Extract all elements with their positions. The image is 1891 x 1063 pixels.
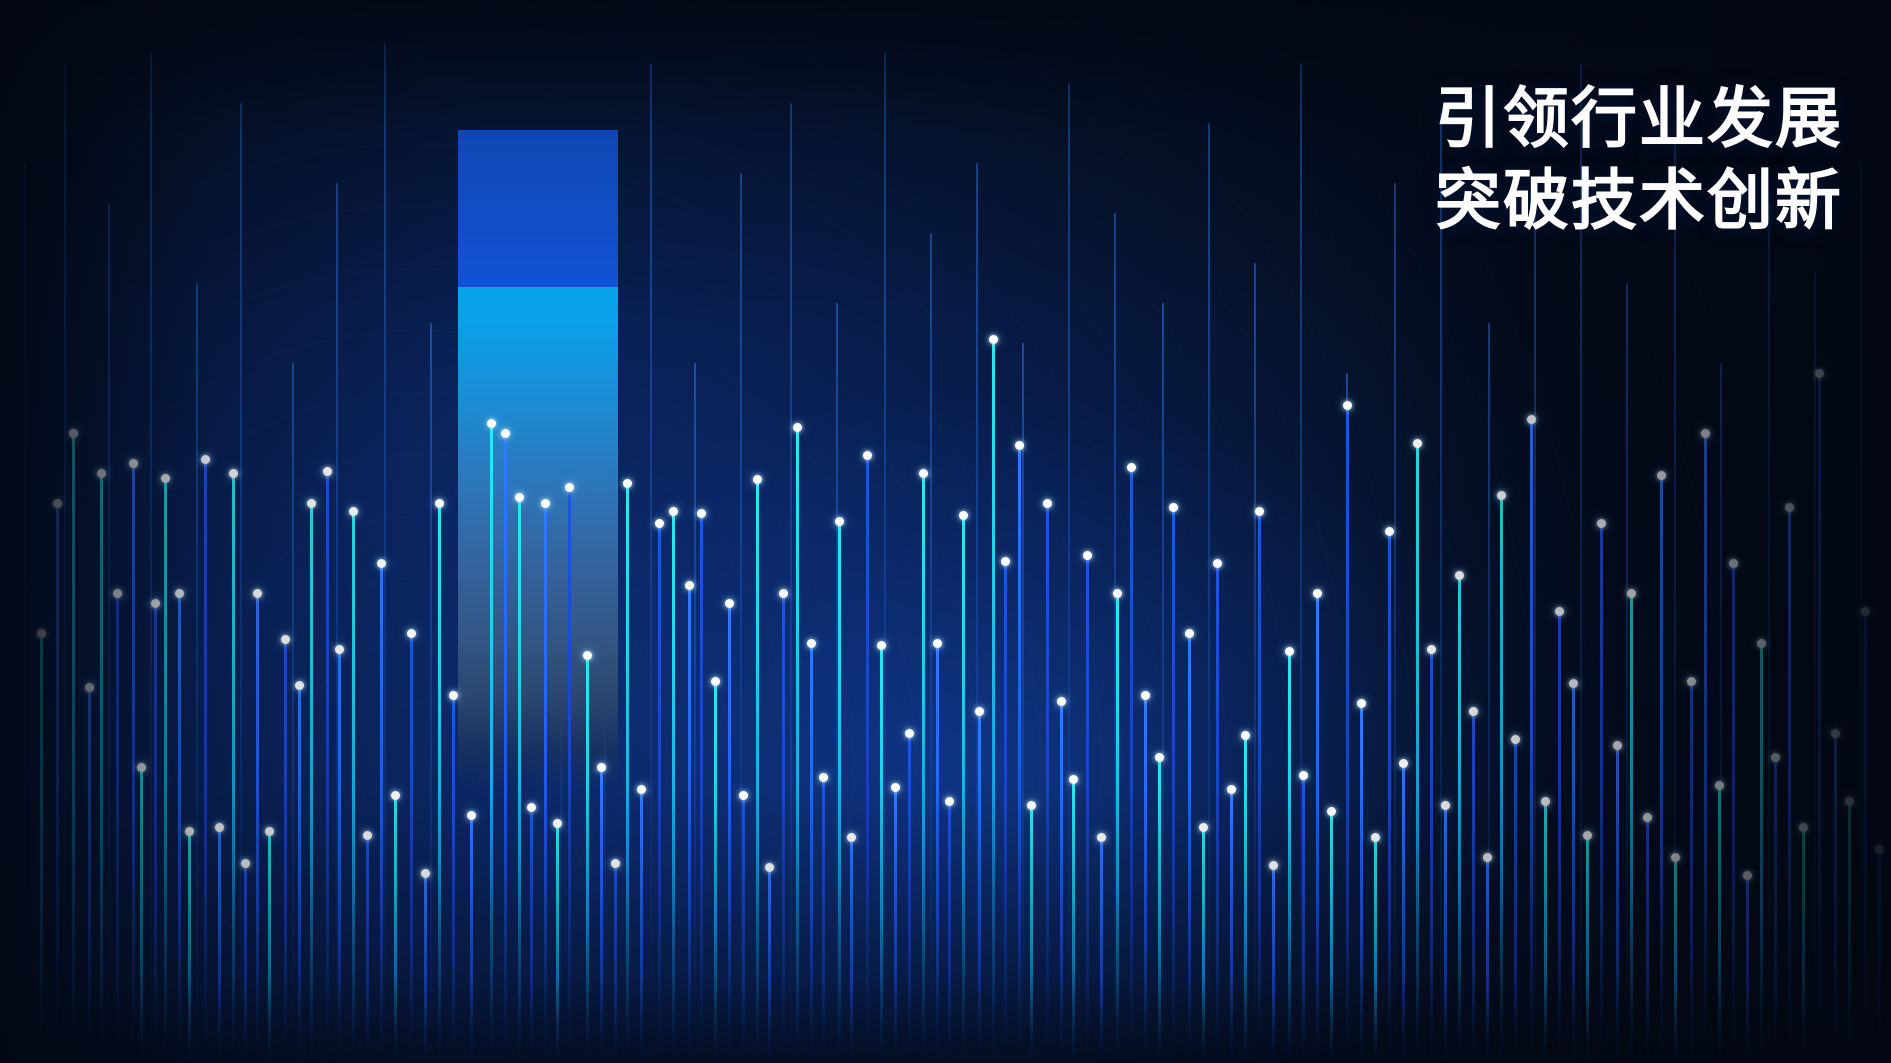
headline: 引领行业发展 突破技术创新 [1435,78,1843,242]
highlight-bar-top-segment [458,130,618,287]
poster-canvas: 引领行业发展 突破技术创新 [0,0,1891,1063]
headline-line-1: 引领行业发展 [1435,78,1843,160]
highlight-bar-body-segment [458,287,618,790]
headline-line-2: 突破技术创新 [1435,160,1843,242]
highlight-bar [458,130,618,790]
